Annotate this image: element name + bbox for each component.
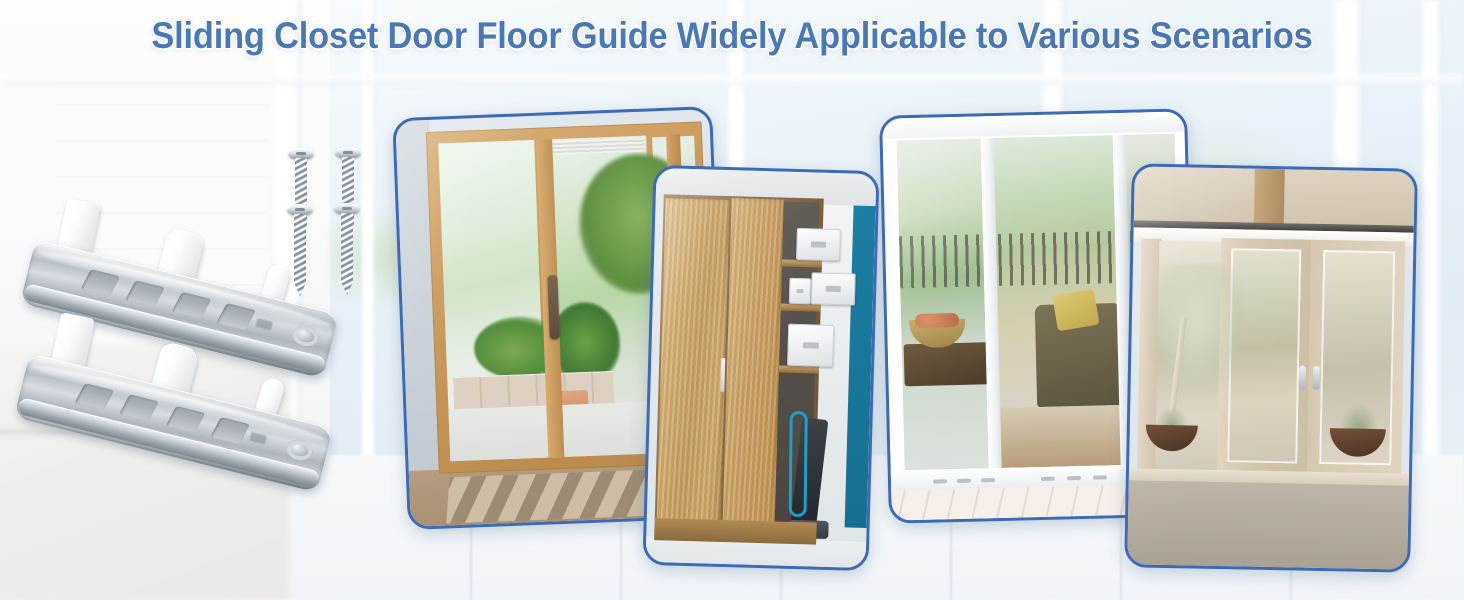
weep-hole [957, 479, 971, 483]
wood-grain [656, 198, 729, 530]
screw-shank [294, 214, 306, 296]
weep-hole [981, 478, 995, 482]
mounting-slot [166, 406, 206, 433]
mounting-slot [119, 394, 159, 421]
scenario-card-beige-sliding-doors[interactable] [1124, 163, 1418, 572]
mounting-slot [172, 292, 212, 319]
screw-hole [284, 437, 314, 463]
weep-hole [1093, 475, 1107, 479]
weep-hole [1041, 477, 1055, 481]
stamped-marking [255, 318, 273, 331]
banner-headline: Sliding Closet Door Floor Guide Widely A… [51, 17, 1413, 56]
closet-shelf [779, 366, 819, 374]
closet-shelf [781, 304, 821, 312]
wood-grain [722, 198, 783, 533]
stamped-marking [249, 432, 267, 445]
photo-sliding-closet-door [646, 168, 877, 568]
mounting-screw [339, 203, 355, 295]
mounting-slot [216, 303, 256, 330]
door-handle-left [1299, 366, 1306, 390]
product-hero-group [0, 120, 400, 520]
closet-door-right [722, 198, 783, 533]
interior-floor [999, 405, 1122, 470]
glass-panel-left [897, 138, 989, 472]
weep-hole [933, 479, 947, 483]
ceiling-beam [1254, 169, 1285, 226]
closet-door-left [656, 198, 729, 530]
screw-shank [341, 213, 353, 295]
throw-pillow [1052, 289, 1099, 331]
mounting-slot [74, 383, 114, 410]
product-banner: Sliding Closet Door Floor Guide Widely A… [0, 0, 1464, 600]
scenario-card-wood-closet-door[interactable] [642, 165, 879, 571]
closet-base-rail [654, 518, 817, 545]
mounting-screw [292, 204, 308, 296]
mounting-slot [80, 269, 120, 296]
closet-shelf [782, 260, 822, 268]
wood-table [904, 342, 991, 386]
storage-box [787, 324, 834, 367]
floor-guide-bracket-lower [14, 353, 333, 493]
screw-hole [290, 323, 320, 349]
fruit [915, 313, 959, 328]
storage-box [796, 228, 841, 261]
olive-tree [1147, 263, 1245, 395]
background-head-track [0, 74, 1464, 86]
storage-box [811, 272, 856, 305]
mounting-slot [125, 280, 165, 307]
weep-hole [1067, 476, 1081, 480]
interior-rug [1127, 480, 1409, 569]
mounting-slot [210, 417, 250, 444]
door-handle-right [1313, 366, 1320, 390]
storage-box [789, 278, 812, 305]
photo-beige-sliding-glass-doors [1127, 166, 1415, 569]
